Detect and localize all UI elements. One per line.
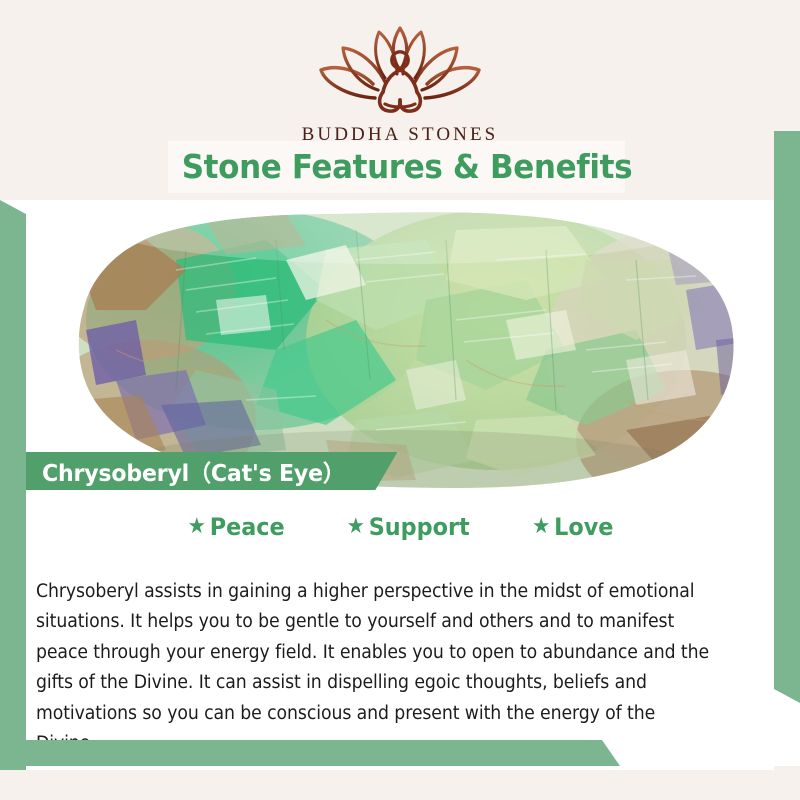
keyword-label: Support	[369, 513, 470, 541]
page-title: Stone Features & Benefits	[182, 142, 612, 192]
star-icon: ★	[532, 516, 550, 538]
keyword-item-support: ★ Support	[347, 513, 470, 541]
frame-right-bar	[774, 131, 800, 703]
keyword-label: Peace	[210, 513, 285, 541]
lotus-meditation-figure-icon	[315, 20, 485, 120]
stone-name: Chrysoberyl（Cat's Eye）	[42, 454, 345, 488]
keyword-list: ★ Peace ★ Support ★ Love	[26, 513, 774, 541]
frame-left-bar	[0, 200, 26, 770]
keyword-item-peace: ★ Peace	[188, 513, 285, 541]
frame-bottom-bar	[0, 740, 620, 766]
stone-benefits-poster: BUDDHA STONES Stone Features & Benefits	[0, 0, 800, 800]
stone-name-banner: Chrysoberyl（Cat's Eye）	[26, 452, 397, 490]
keyword-item-love: ★ Love	[532, 513, 613, 541]
star-icon: ★	[188, 516, 206, 538]
brand-logo: BUDDHA STONES	[0, 20, 800, 146]
stone-description: Chrysoberyl assists in gaining a higher …	[36, 577, 717, 760]
keyword-label: Love	[554, 513, 613, 541]
cream-bottom-background	[0, 766, 800, 800]
star-icon: ★	[347, 516, 365, 538]
header: BUDDHA STONES Stone Features & Benefits	[0, 0, 800, 200]
